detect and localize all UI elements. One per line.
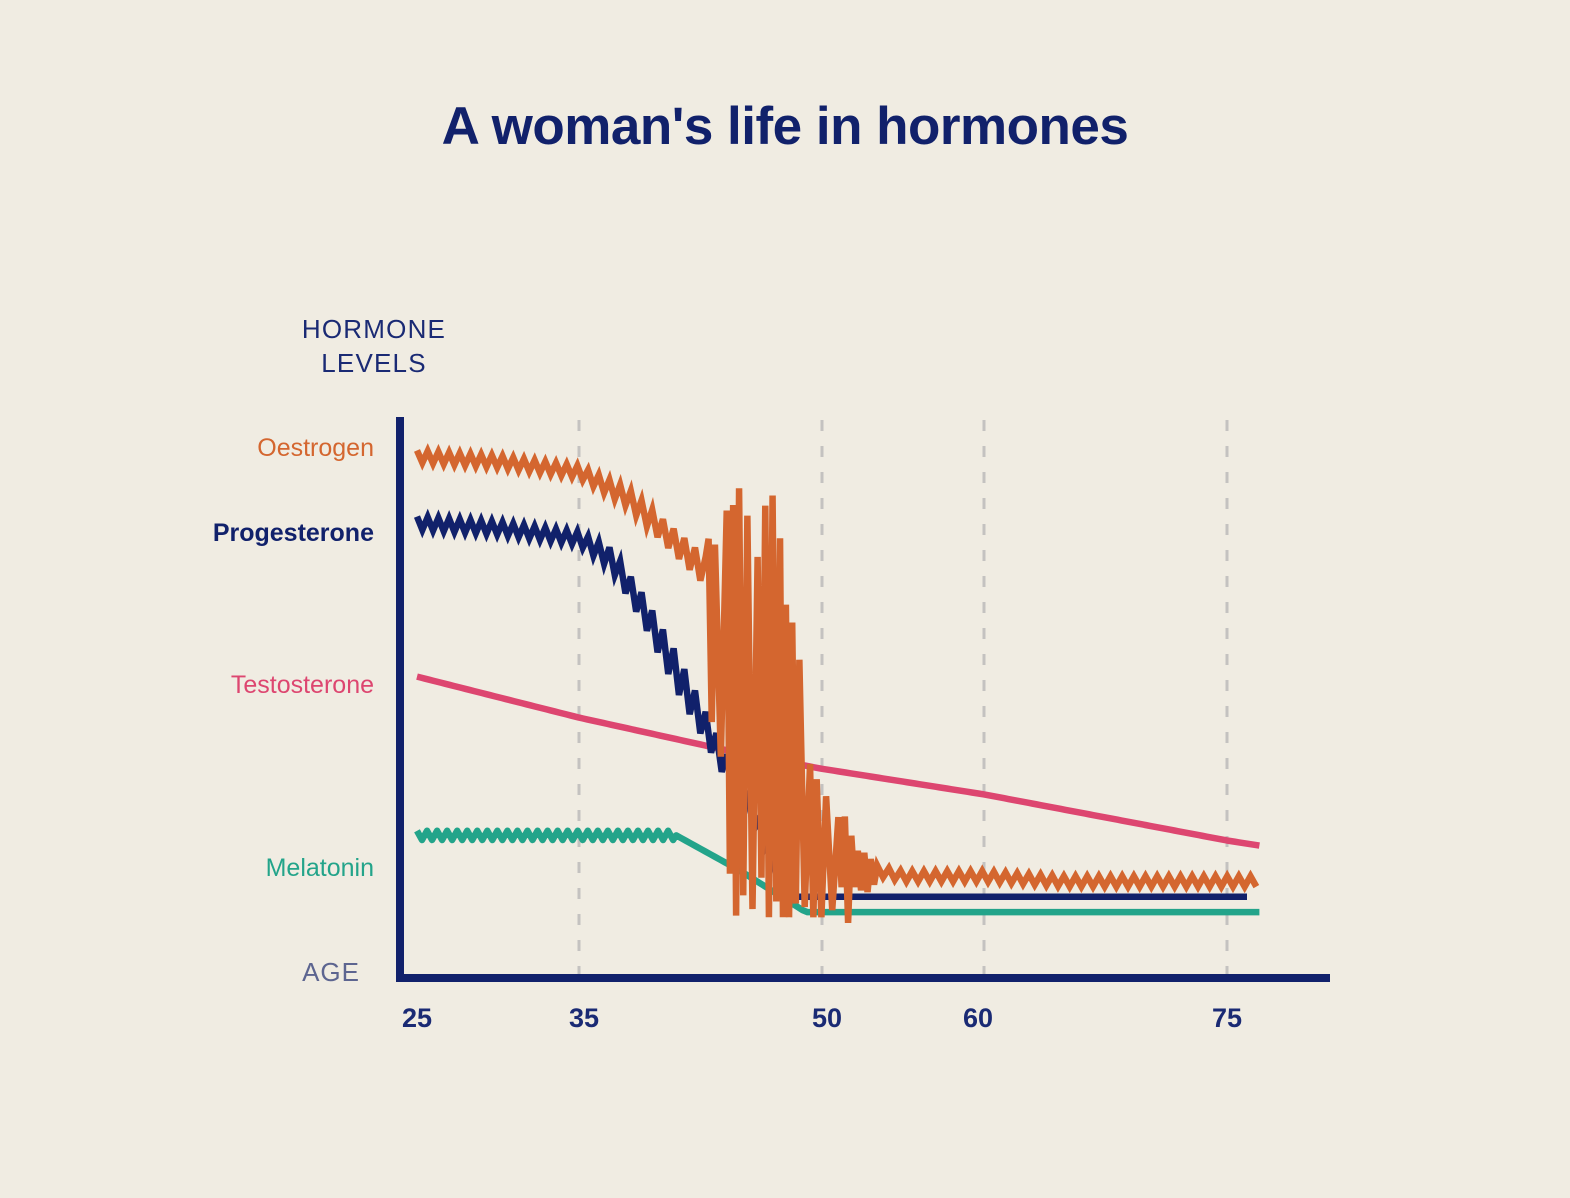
x-tick-35: 35 — [544, 1003, 624, 1034]
chart-page: A woman's life in hormones HORMONE LEVEL… — [0, 0, 1570, 1198]
chart-plot-area — [0, 0, 1570, 1198]
x-tick-50: 50 — [787, 1003, 867, 1034]
x-tick-75: 75 — [1187, 1003, 1267, 1034]
series-line-oestrogen — [417, 450, 1256, 922]
x-tick-25: 25 — [377, 1003, 457, 1034]
x-tick-60: 60 — [938, 1003, 1018, 1034]
